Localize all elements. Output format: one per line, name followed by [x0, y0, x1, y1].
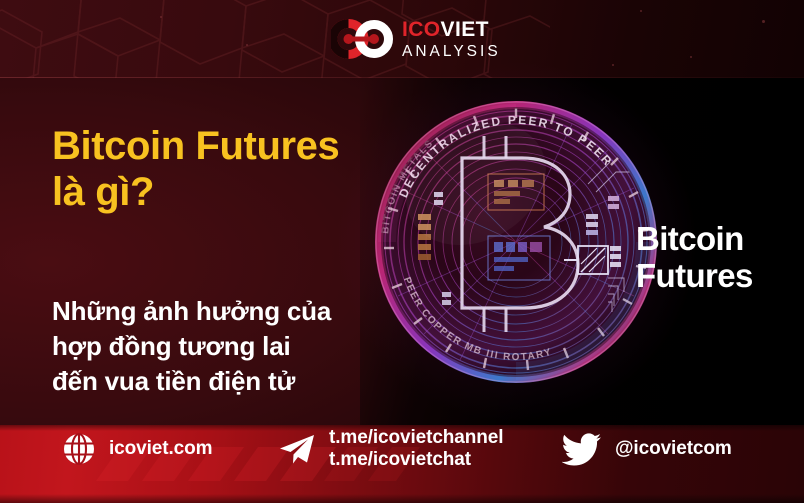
footer-telegram-link[interactable]: t.me/icovietchannel t.me/icovietchat	[278, 427, 503, 471]
footer-telegram-chat: t.me/icovietchat	[329, 449, 503, 471]
telegram-icon	[278, 432, 316, 466]
headline-line-2: là gì?	[52, 170, 432, 216]
subheadline-line-1: Những ảnh hưởng của	[52, 294, 432, 329]
footer-website-link[interactable]: icoviet.com	[62, 432, 212, 466]
footer-bottom-shadow	[0, 494, 804, 503]
logo-wordmark: ICOVIET ANALYSIS	[402, 19, 501, 60]
logo-text-ico: ICO	[402, 18, 441, 41]
icoviet-rings-icon	[331, 17, 393, 61]
headline-line-1: Bitcoin Futures	[52, 124, 432, 170]
logo-tagline: ANALYSIS	[402, 44, 501, 60]
globe-icon	[62, 432, 96, 466]
footer-twitter-label: @icovietcom	[615, 438, 732, 460]
subheadline-line-2: hợp đồng tương lai	[52, 329, 432, 364]
product-label-line-1: Bitcoin	[636, 221, 753, 258]
subheadline: Những ảnh hưởng của hợp đồng tương lai đ…	[52, 294, 432, 398]
footer-twitter-link[interactable]: @icovietcom	[562, 432, 732, 466]
footer-telegram-channel: t.me/icovietchannel	[329, 427, 503, 449]
product-label: Bitcoin Futures	[636, 221, 753, 295]
headline: Bitcoin Futures là gì?	[52, 124, 432, 215]
footer-website-label: icoviet.com	[109, 438, 212, 460]
brand-logo[interactable]: ICOVIET ANALYSIS	[331, 17, 501, 61]
promo-banner: ICOVIET ANALYSIS	[0, 0, 804, 503]
product-label-line-2: Futures	[636, 258, 753, 295]
twitter-bird-icon	[562, 432, 602, 466]
logo-text-viet: VIET	[441, 18, 489, 41]
footer-telegram-labels: t.me/icovietchannel t.me/icovietchat	[329, 427, 503, 471]
subheadline-line-3: đến vua tiền điện tử	[52, 364, 432, 399]
header-divider	[0, 77, 804, 78]
